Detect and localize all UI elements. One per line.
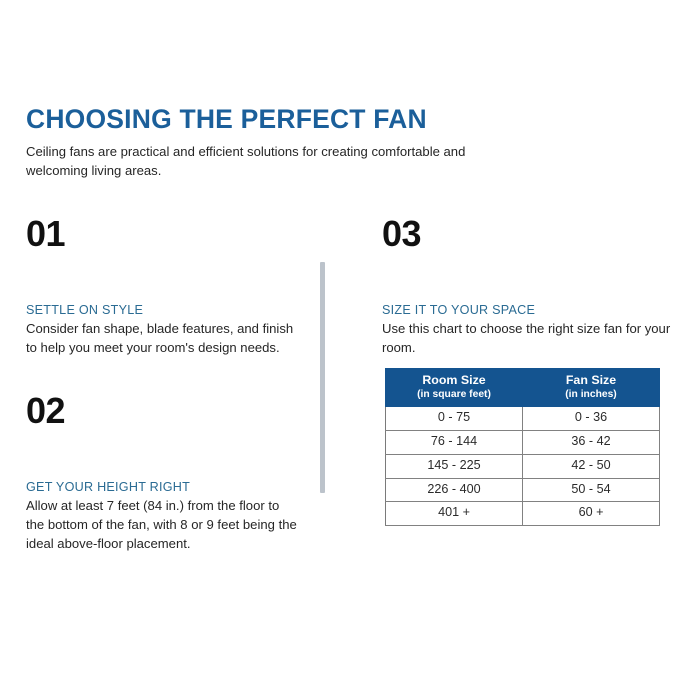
step-number-02: 02 bbox=[26, 393, 298, 429]
table-row: 226 - 400 50 - 54 bbox=[386, 478, 660, 502]
cell-fan-size: 50 - 54 bbox=[523, 478, 660, 502]
page-header: CHOOSING THE PERFECT FAN Ceiling fans ar… bbox=[26, 105, 526, 180]
step-number-01: 01 bbox=[26, 216, 298, 252]
step-block-01: 01 SETTLE ON STYLE Consider fan shape, b… bbox=[26, 216, 298, 358]
step-block-02: 02 GET YOUR HEIGHT RIGHT Allow at least … bbox=[26, 393, 298, 554]
table-header-row: Room Size (in square feet) Fan Size (in … bbox=[386, 369, 660, 407]
infographic-page: CHOOSING THE PERFECT FAN Ceiling fans ar… bbox=[0, 0, 700, 700]
page-title: CHOOSING THE PERFECT FAN bbox=[26, 105, 526, 134]
column-divider bbox=[320, 262, 325, 493]
column-header-fan-size: Fan Size (in inches) bbox=[523, 369, 660, 407]
column-header-room-size-unit: (in square feet) bbox=[388, 389, 520, 401]
fan-size-table: Room Size (in square feet) Fan Size (in … bbox=[385, 368, 660, 526]
table-head: Room Size (in square feet) Fan Size (in … bbox=[386, 369, 660, 407]
column-header-room-size: Room Size (in square feet) bbox=[386, 369, 523, 407]
column-header-fan-size-unit: (in inches) bbox=[525, 389, 657, 401]
step-subheading-01: SETTLE ON STYLE bbox=[26, 302, 298, 318]
cell-fan-size: 42 - 50 bbox=[523, 454, 660, 478]
intro-paragraph: Ceiling fans are practical and efficient… bbox=[26, 143, 478, 180]
left-column: 01 SETTLE ON STYLE Consider fan shape, b… bbox=[26, 216, 298, 554]
cell-fan-size: 60 + bbox=[523, 502, 660, 526]
cell-room-size: 0 - 75 bbox=[386, 407, 523, 431]
step-body-02: Allow at least 7 feet (84 in.) from the … bbox=[26, 497, 298, 554]
cell-room-size: 145 - 225 bbox=[386, 454, 523, 478]
cell-fan-size: 0 - 36 bbox=[523, 407, 660, 431]
table-row: 145 - 225 42 - 50 bbox=[386, 454, 660, 478]
table-row: 401 + 60 + bbox=[386, 502, 660, 526]
cell-room-size: 401 + bbox=[386, 502, 523, 526]
step-body-03: Use this chart to choose the right size … bbox=[382, 320, 674, 358]
step-number-03: 03 bbox=[382, 216, 674, 252]
step-block-03: 03 SIZE IT TO YOUR SPACE Use this chart … bbox=[382, 216, 674, 358]
cell-room-size: 76 - 144 bbox=[386, 431, 523, 455]
column-header-fan-size-label: Fan Size bbox=[566, 373, 616, 387]
cell-room-size: 226 - 400 bbox=[386, 478, 523, 502]
table-body: 0 - 75 0 - 36 76 - 144 36 - 42 145 - 225… bbox=[386, 407, 660, 526]
right-column: 03 SIZE IT TO YOUR SPACE Use this chart … bbox=[382, 216, 674, 358]
column-header-room-size-label: Room Size bbox=[422, 373, 485, 387]
cell-fan-size: 36 - 42 bbox=[523, 431, 660, 455]
step-subheading-02: GET YOUR HEIGHT RIGHT bbox=[26, 479, 298, 495]
table-row: 76 - 144 36 - 42 bbox=[386, 431, 660, 455]
table-row: 0 - 75 0 - 36 bbox=[386, 407, 660, 431]
step-body-01: Consider fan shape, blade features, and … bbox=[26, 320, 298, 358]
step-subheading-03: SIZE IT TO YOUR SPACE bbox=[382, 302, 674, 318]
